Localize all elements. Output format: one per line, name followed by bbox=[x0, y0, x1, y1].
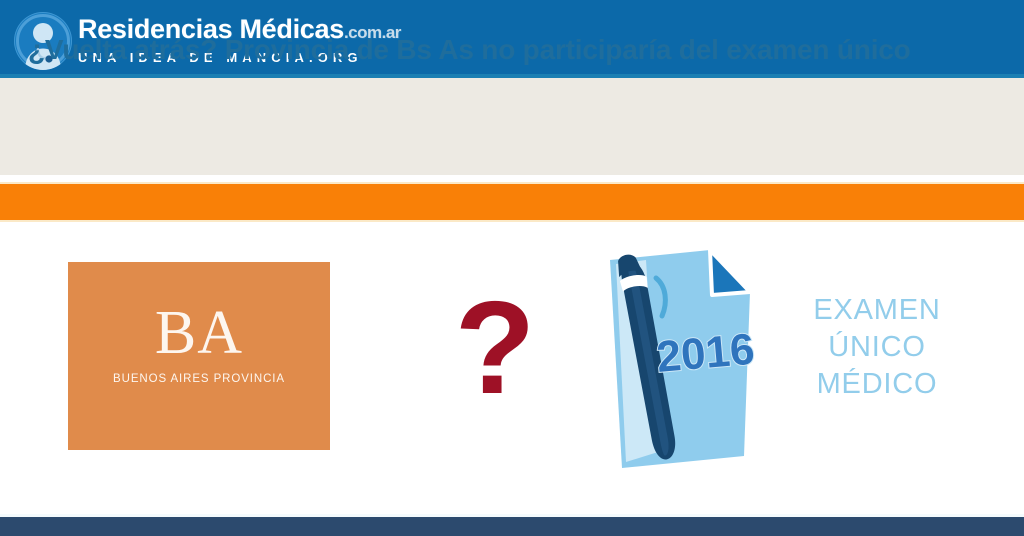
article-headline: ¿Vuelta atrás? Provincia de Bs As no par… bbox=[28, 33, 1008, 67]
document-year-label: 2016 bbox=[655, 325, 757, 382]
accent-divider-top-edge bbox=[0, 182, 1024, 184]
headline-band bbox=[0, 78, 1024, 178]
ba-subtitle: BUENOS AIRES PROVINCIA bbox=[68, 372, 330, 387]
site-footer bbox=[0, 517, 1024, 536]
exam-caption-line-1: EXAMEN bbox=[772, 292, 982, 329]
page-root: Residencias Médicas.com.ar UNA IDEA DE M… bbox=[0, 0, 1024, 536]
ba-monogram: BA bbox=[68, 300, 330, 366]
exam-caption-line-3: MÉDICO bbox=[772, 366, 982, 403]
exam-caption-line-2: ÚNICO bbox=[772, 329, 982, 366]
exam-caption: EXAMEN ÚNICO MÉDICO bbox=[772, 292, 982, 403]
document-with-pen-icon: 2016 bbox=[592, 242, 772, 482]
illustration-stage: BA BUENOS AIRES PROVINCIA ? bbox=[0, 222, 1024, 517]
buenos-aires-province-logo: BA BUENOS AIRES PROVINCIA bbox=[68, 262, 330, 450]
accent-divider bbox=[0, 182, 1024, 222]
question-mark-glyph: ? bbox=[440, 282, 550, 414]
